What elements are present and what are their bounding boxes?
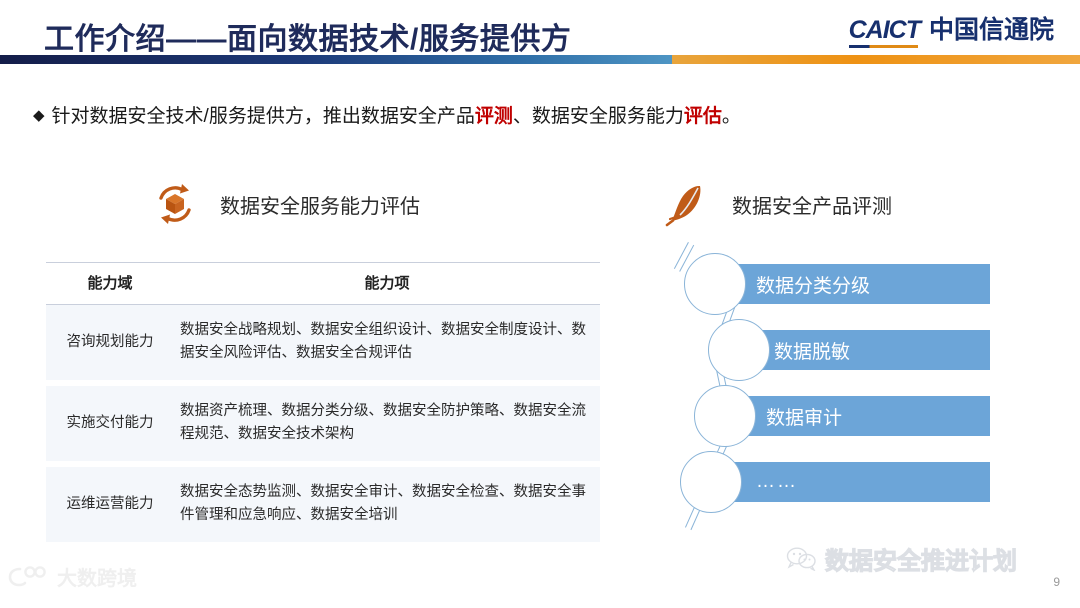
chain-bar-label-2: 数据脱敏	[774, 337, 850, 364]
title-divider-blue-segment	[0, 55, 672, 64]
capability-table: 能力域 能力项 咨询规划能力 数据安全战略规划、数据安全组织设计、数据安全制度设…	[46, 262, 600, 542]
chain-circle-3	[694, 385, 756, 447]
chain-bar-label-4: ……	[756, 471, 798, 493]
cell-domain: 咨询规划能力	[46, 305, 174, 383]
cell-items: 数据安全态势监测、数据安全审计、数据安全检查、数据安全事件管理和应急响应、数据安…	[174, 464, 600, 542]
bullet-text-part-1: 针对数据安全技术/服务提供方，推出数据安全产品	[52, 106, 475, 127]
recycle-box-icon	[152, 181, 198, 227]
table-row: 实施交付能力 数据资产梳理、数据分类分级、数据安全防护策略、数据安全流程规范、数…	[46, 383, 600, 464]
chain-bar-3[interactable]: 数据审计	[720, 396, 990, 436]
chain-bar-label-1: 数据分类分级	[756, 271, 870, 298]
caict-logo: CAICT 中国信通院	[849, 18, 1054, 48]
section-label-right: 数据安全产品评测	[732, 190, 892, 219]
bullet-text-part-2: 、数据安全服务能力	[513, 106, 684, 127]
section-header-left: 数据安全服务能力评估	[152, 181, 420, 227]
bullet-paragraph: ◆针对数据安全技术/服务提供方，推出数据安全产品评测、数据安全服务能力评估。	[33, 101, 741, 128]
table-header-row: 能力域 能力项	[46, 263, 600, 305]
bullet-text-part-3: 。	[722, 106, 741, 127]
chain-bar-4[interactable]: ……	[714, 462, 990, 502]
wechat-watermark: 数据安全推进计划	[786, 541, 1017, 576]
wechat-watermark-label: 数据安全推进计划	[825, 541, 1017, 576]
bullet-highlight-1: 评测	[475, 106, 513, 127]
cell-domain: 运维运营能力	[46, 464, 174, 542]
section-header-right: 数据安全产品评测	[664, 181, 892, 227]
wechat-icon	[786, 547, 816, 571]
chain-circle-2	[708, 319, 770, 381]
page-title: 工作介绍——面向数据技术/服务提供方	[44, 14, 571, 58]
chain-bar-2[interactable]: 数据脱敏	[734, 330, 990, 370]
title-divider-orange-segment	[672, 55, 1080, 64]
chain-circle-4	[680, 451, 742, 513]
dashukuajing-watermark-label: 大数跨境	[57, 562, 137, 591]
column-header-domain: 能力域	[46, 263, 174, 305]
caict-logo-cn: 中国信通院	[929, 18, 1054, 48]
page-number: 9	[1053, 575, 1060, 589]
chain-bar-label-3: 数据审计	[766, 403, 842, 430]
dashukuajing-logo-icon	[8, 564, 50, 590]
cell-domain: 实施交付能力	[46, 383, 174, 464]
title-divider	[0, 55, 1080, 64]
column-header-items: 能力项	[174, 263, 600, 305]
bullet-diamond-icon: ◆	[33, 107, 45, 124]
table-row: 运维运营能力 数据安全态势监测、数据安全审计、数据安全检查、数据安全事件管理和应…	[46, 464, 600, 542]
chain-circle-1	[684, 253, 746, 315]
dashukuajing-watermark: 大数跨境	[8, 562, 137, 591]
bullet-highlight-2: 评估	[684, 106, 722, 127]
section-label-left: 数据安全服务能力评估	[220, 190, 420, 219]
cell-items: 数据安全战略规划、数据安全组织设计、数据安全制度设计、数据安全风险评估、数据安全…	[174, 305, 600, 383]
chain-bar-1[interactable]: 数据分类分级	[710, 264, 990, 304]
table-row: 咨询规划能力 数据安全战略规划、数据安全组织设计、数据安全制度设计、数据安全风险…	[46, 305, 600, 383]
product-evaluation-chain: 数据分类分级 数据脱敏 数据审计 ……	[676, 248, 1006, 533]
caict-logo-en: CAICT	[849, 18, 920, 48]
cell-items: 数据资产梳理、数据分类分级、数据安全防护策略、数据安全流程规范、数据安全技术架构	[174, 383, 600, 464]
feather-icon	[664, 181, 710, 227]
